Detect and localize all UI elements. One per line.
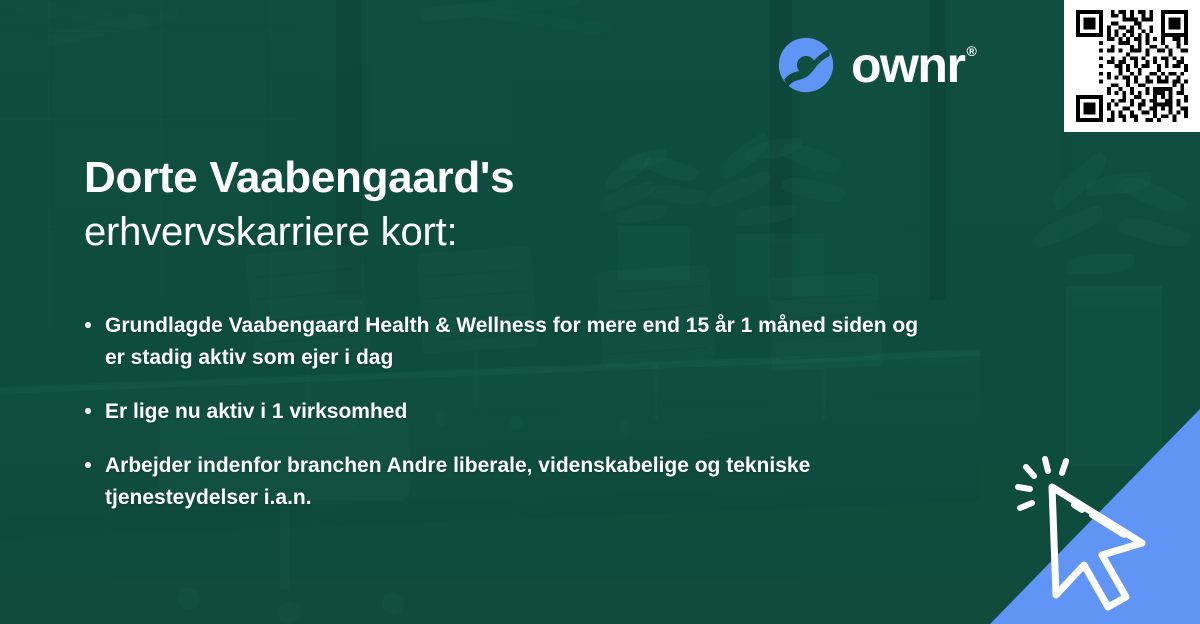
list-item: Grundlagde Vaabengaard Health & Wellness… <box>84 310 934 374</box>
list-item: Er lige nu aktiv i 1 virksomhed <box>84 396 934 428</box>
registered-trademark-symbol: ® <box>966 44 975 58</box>
qr-code-panel[interactable] <box>1064 0 1200 132</box>
ownr-circle-swoosh-logo-icon <box>777 36 835 94</box>
list-item-text: Arbejder indenfor branchen Andre liberal… <box>105 450 934 514</box>
brand-name: ownr <box>851 40 964 90</box>
list-item-text: Er lige nu aktiv i 1 virksomhed <box>105 396 934 428</box>
career-summary-card: ownr ® <box>0 0 1200 624</box>
qr-code-icon <box>1076 10 1188 122</box>
list-item-text: Grundlagde Vaabengaard Health & Wellness… <box>105 310 934 374</box>
title-line-subtitle: erhvervskarriere kort: <box>84 208 844 256</box>
corner-triangle <box>990 409 1200 624</box>
bullet-dot-icon <box>85 322 91 328</box>
title-line-name: Dorte Vaabengaard's <box>84 152 844 204</box>
page-title: Dorte Vaabengaard's erhvervskarriere kor… <box>84 152 844 256</box>
ownr-logo[interactable]: ownr ® <box>777 36 975 94</box>
click-corner-badge[interactable] <box>990 409 1200 624</box>
career-highlights-list: Grundlagde Vaabengaard Health & Wellness… <box>84 310 934 514</box>
bullet-dot-icon <box>85 408 91 414</box>
ownr-wordmark: ownr ® <box>851 40 975 90</box>
list-item: Arbejder indenfor branchen Andre liberal… <box>84 450 934 514</box>
bullet-dot-icon <box>85 462 91 468</box>
